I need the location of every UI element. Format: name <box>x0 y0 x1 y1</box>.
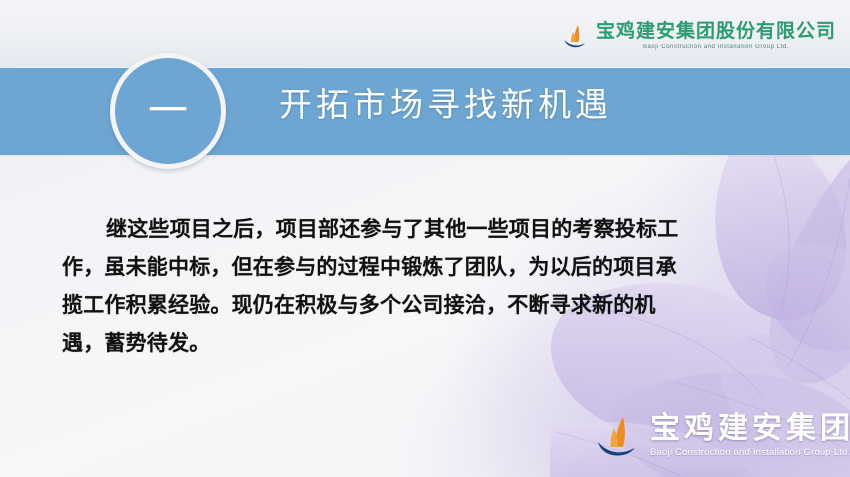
top-company-logo: 宝鸡建安集团股份有限公司 Baoji Construction and Inst… <box>563 22 836 50</box>
section-number-badge: 一 <box>110 53 226 169</box>
top-company-name-cn: 宝鸡建安集团股份有限公司 <box>596 22 836 41</box>
top-brand-bar: 宝鸡建安集团股份有限公司 Baoji Construction and Inst… <box>0 0 850 67</box>
bottom-company-name-en: Baoji Construction and Installation Grou… <box>650 448 850 458</box>
bottom-company-name-cn: 宝鸡建安集团 <box>650 414 850 444</box>
section-number-label: 一 <box>148 91 188 131</box>
sailboat-logo-icon <box>596 416 640 456</box>
bottom-company-logo: 宝鸡建安集团 Baoji Construction and Installati… <box>596 414 850 458</box>
body-paragraph: 继这些项目之后，项目部还参与了其他一些项目的考察投标工作，虽未能中标，但在参与的… <box>62 210 694 362</box>
top-company-name-en: Baoji Construction and Installation Grou… <box>596 44 836 50</box>
presentation-slide: 宝鸡建安集团股份有限公司 Baoji Construction and Inst… <box>0 0 850 477</box>
sailboat-logo-icon <box>563 24 589 48</box>
slide-title: 开拓市场寻找新机遇 <box>279 88 612 121</box>
